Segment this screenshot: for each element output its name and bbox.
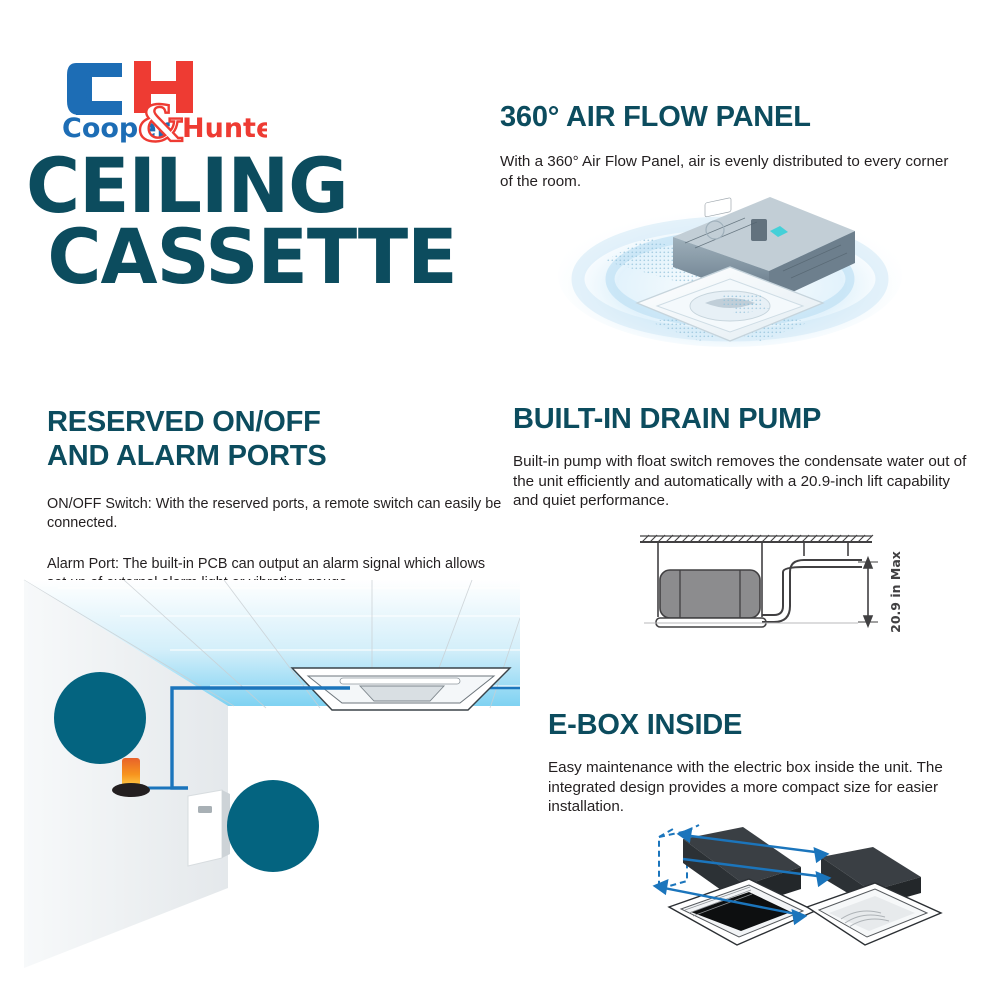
section-body-drain-pump: Built-in pump with float switch removes … (513, 452, 968, 510)
unit-with-ebox-inside (807, 847, 941, 945)
section-heading-reserved-ports: RESERVED ON/OFF AND ALARM PORTS (47, 405, 507, 473)
dimension-label-20-9-in-max: 20.9 in Max (888, 551, 903, 633)
section-body-ebox: Easy maintenance with the electric box i… (548, 758, 958, 816)
page-title: CEILING CASSETTE (26, 150, 472, 293)
section-drain-pump: BUILT-IN DRAIN PUMP Built-in pump with f… (513, 402, 983, 511)
section-body-onoff-switch: ON/OFF Switch: With the reserved ports, … (47, 495, 507, 532)
infographic-page: Cooper Hunter & CEILING CASSETTE 360° AI… (0, 0, 1000, 1000)
callout-circle-top (54, 672, 146, 764)
heading-line2: AND ALARM PORTS (47, 440, 326, 472)
section-heading-air-flow: 360° AIR FLOW PANEL (500, 100, 970, 134)
heading-line1: RESERVED ON/OFF (47, 406, 321, 438)
wall-switch-box (188, 790, 230, 866)
page-title-line2: CASSETTE (26, 221, 472, 292)
svg-text:&: & (138, 94, 183, 145)
room-installation-illustration (20, 558, 520, 968)
callout-circle-bottom (227, 780, 319, 872)
section-ebox-inside: E-BOX INSIDE Easy maintenance with the e… (548, 708, 978, 817)
unit-with-external-box (669, 827, 815, 945)
section-heading-ebox: E-BOX INSIDE (548, 708, 978, 742)
cooper-hunter-logo: Cooper Hunter & (62, 55, 267, 145)
drain-pump-lift-diagram: 20.9 in Max (622, 522, 922, 647)
air-flow-panel-illustration (555, 175, 905, 350)
section-heading-drain-pump: BUILT-IN DRAIN PUMP (513, 402, 983, 436)
svg-text:Hunter: Hunter (182, 113, 267, 144)
ebox-size-comparison-diagram (625, 815, 955, 950)
